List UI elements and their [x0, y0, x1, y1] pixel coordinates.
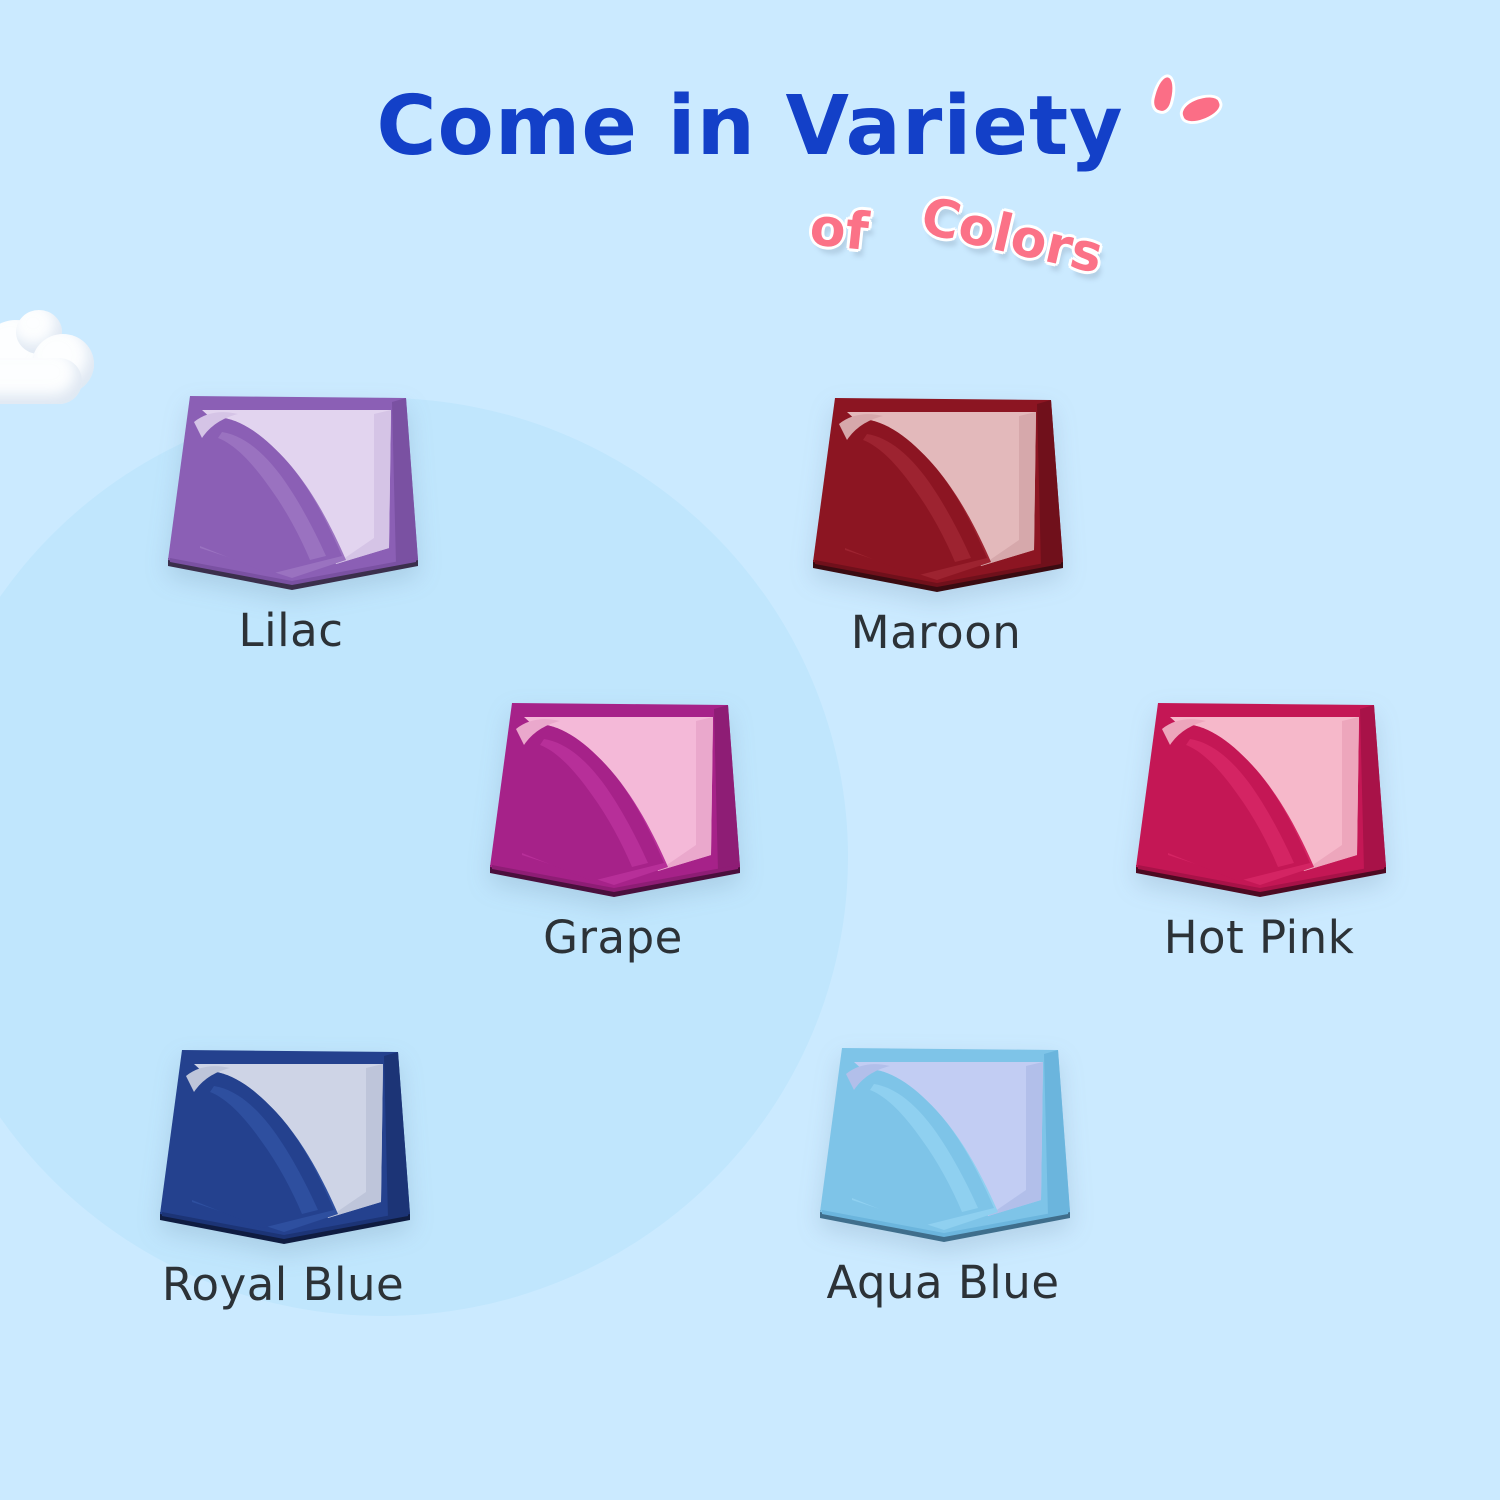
leaf-accent-icon	[1141, 74, 1251, 144]
product-label-royal-blue: Royal Blue	[152, 1258, 414, 1311]
product-label-hot-pink: Hot Pink	[1128, 911, 1390, 964]
page-subtitle: of Colors	[810, 182, 1130, 278]
product-label-grape: Grape	[482, 911, 744, 964]
product-item-maroon[interactable]: Maroon	[805, 390, 1067, 594]
mat-image-lilac	[160, 388, 422, 592]
product-label-maroon: Maroon	[805, 606, 1067, 659]
mat-image-royal-blue	[152, 1042, 414, 1246]
product-item-hot-pink[interactable]: Hot Pink	[1128, 695, 1390, 899]
mat-image-hot-pink	[1128, 695, 1390, 899]
page-title: Come in Variety	[0, 86, 1500, 168]
product-label-aqua-blue: Aqua Blue	[812, 1256, 1074, 1309]
product-label-lilac: Lilac	[160, 604, 422, 657]
mat-image-maroon	[805, 390, 1067, 594]
subtitle-word-of: of	[807, 201, 870, 259]
product-item-royal-blue[interactable]: Royal Blue	[152, 1042, 414, 1246]
product-item-aqua-blue[interactable]: Aqua Blue	[812, 1040, 1074, 1244]
infographic-canvas: Come in Variety of Colors Lilac Maroon	[0, 0, 1500, 1500]
product-item-grape[interactable]: Grape	[482, 695, 744, 899]
cloud-icon	[0, 308, 114, 404]
mat-image-aqua-blue	[812, 1040, 1074, 1244]
mat-image-grape	[482, 695, 744, 899]
product-item-lilac[interactable]: Lilac	[160, 388, 422, 592]
subtitle-word-colors: Colors	[917, 190, 1108, 282]
